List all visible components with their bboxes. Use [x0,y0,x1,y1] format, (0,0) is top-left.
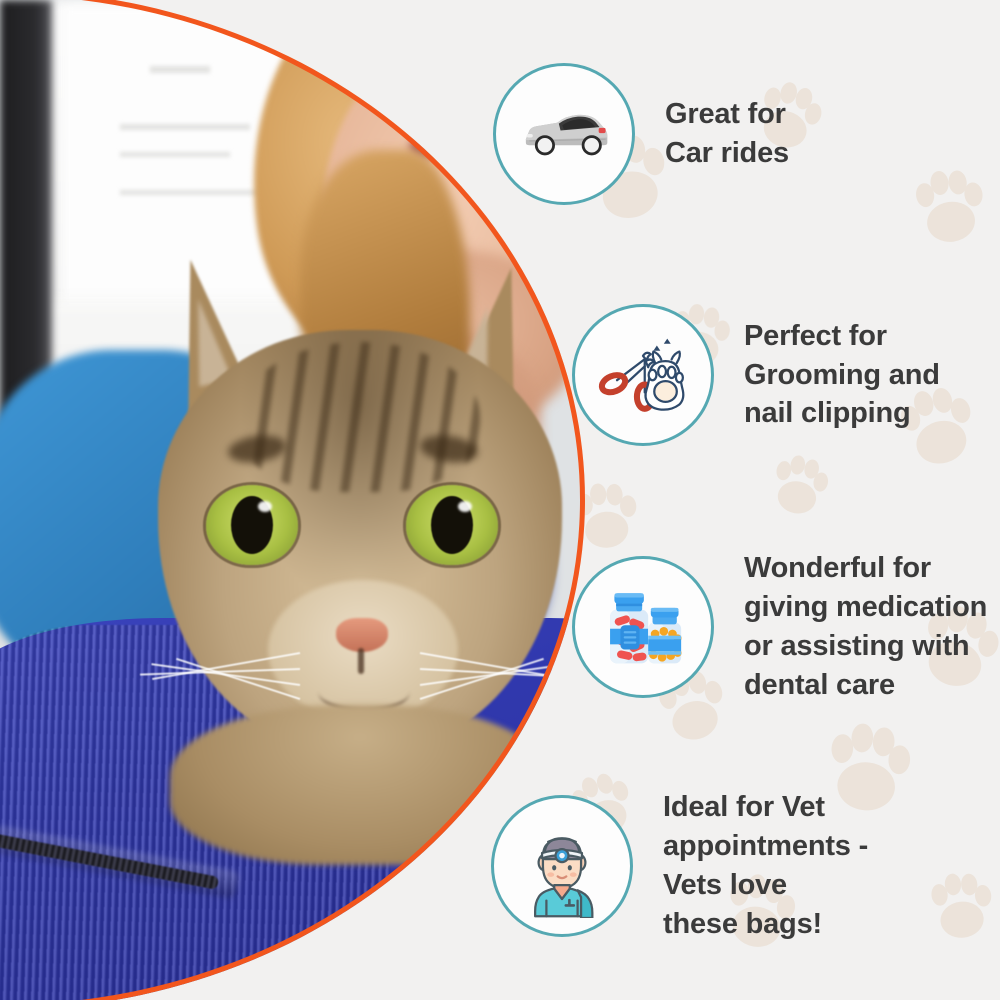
grooming-icon-circle [572,304,714,446]
veterinarian-icon [510,814,614,918]
infographic-root: Great for Car rides [0,0,1000,1000]
cat-photo-subject [150,250,570,810]
medication-icon-circle [572,556,714,698]
car-rides-icon-circle [493,63,635,205]
vet-icon-circle [491,795,633,937]
feature-car-rides: Great for Car rides [493,63,789,205]
nail-clippers-paw-icon [591,323,695,427]
feature-medication-label: Wonderful for giving medication or assis… [744,549,987,704]
feature-vet-appointments: Ideal for Vet appointments - Vets love t… [491,788,868,943]
feature-medication: Wonderful for giving medication or assis… [572,549,987,704]
feature-vet-label: Ideal for Vet appointments - Vets love t… [663,788,868,943]
feature-car-rides-label: Great for Car rides [665,95,789,173]
car-icon [512,82,616,186]
pill-bottles-icon [591,575,695,679]
feature-grooming: Perfect for Grooming and nail clipping [572,304,940,446]
feature-grooming-label: Perfect for Grooming and nail clipping [744,317,940,434]
